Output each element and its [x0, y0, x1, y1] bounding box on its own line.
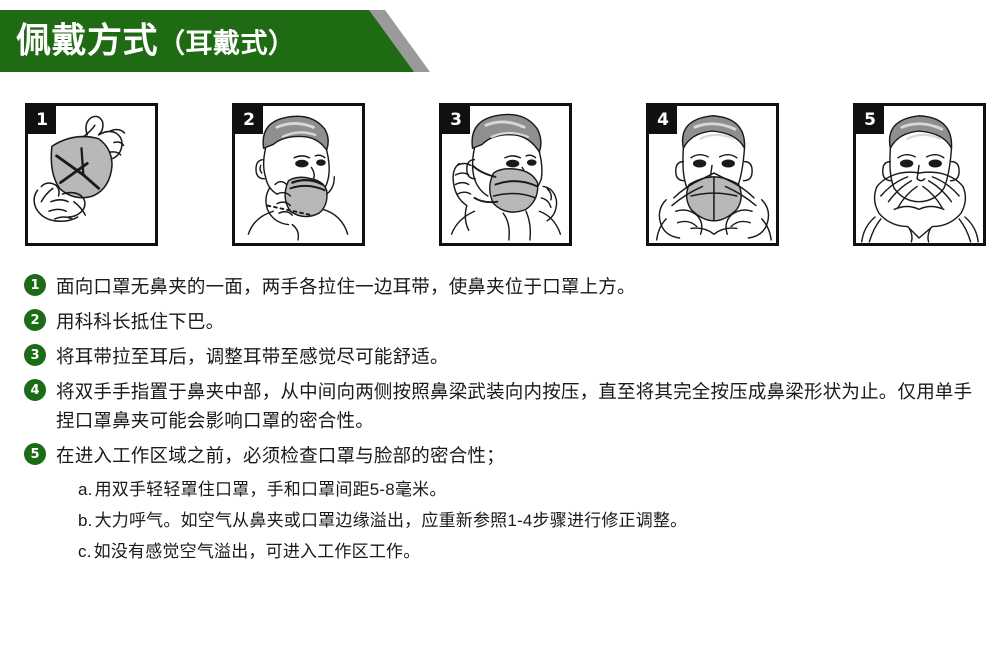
instruction-step-2: 2 用科科长抵住下巴。 [24, 307, 974, 336]
instruction-step-4: 4 将双手手指置于鼻夹中部，从中间向两侧按照鼻梁武装向内按压，直至将其完全按压成… [24, 377, 974, 435]
step-number-badge: 1 [24, 274, 46, 296]
step-text: 在进入工作区域之前，必须检查口罩与脸部的密合性； [56, 441, 974, 470]
illustration-panel-3: 3 [439, 103, 572, 246]
step-number-badge: 4 [24, 379, 46, 401]
substep-text: 用双手轻轻罩住口罩，手和口罩间距5-8毫米。 [95, 480, 447, 499]
substep-b: b.大力呼气。如空气从鼻夹或口罩边缘溢出，应重新参照1-4步骤进行修正调整。 [78, 505, 974, 536]
panel-number-badge: 3 [442, 106, 470, 134]
illustration-panel-5: 5 [853, 103, 986, 246]
page-title-subtitle: （耳戴式） [158, 29, 296, 59]
instruction-step-5: 5 在进入工作区域之前，必须检查口罩与脸部的密合性； a.用双手轻轻罩住口罩，手… [24, 441, 974, 567]
instruction-step-1: 1 面向口罩无鼻夹的一面，两手各拉住一边耳带，使鼻夹位于口罩上方。 [24, 272, 974, 301]
substep-list: a.用双手轻轻罩住口罩，手和口罩间距5-8毫米。 b.大力呼气。如空气从鼻夹或口… [56, 474, 974, 567]
illustration-panel-2: 2 [232, 103, 365, 246]
page-title-main: 佩戴方式 [16, 22, 158, 61]
step-text: 面向口罩无鼻夹的一面，两手各拉住一边耳带，使鼻夹位于口罩上方。 [56, 272, 974, 301]
substep-marker: c. [78, 542, 92, 561]
header-banner: 佩戴方式（耳戴式） [0, 10, 430, 72]
panel-number-badge: 5 [856, 106, 884, 134]
page-title: 佩戴方式（耳戴式） [16, 24, 296, 59]
panel-number-badge: 2 [235, 106, 263, 134]
substep-a: a.用双手轻轻罩住口罩，手和口罩间距5-8毫米。 [78, 474, 974, 505]
step-text: 用科科长抵住下巴。 [56, 307, 974, 336]
substep-text: 大力呼气。如空气从鼻夹或口罩边缘溢出，应重新参照1-4步骤进行修正调整。 [95, 511, 688, 530]
step-number-badge: 3 [24, 344, 46, 366]
step-number-badge: 5 [24, 443, 46, 465]
illustration-panel-4: 4 [646, 103, 779, 246]
substep-marker: a. [78, 480, 93, 499]
step-text: 将双手手指置于鼻夹中部，从中间向两侧按照鼻梁武装向内按压，直至将其完全按压成鼻梁… [56, 377, 974, 435]
substep-marker: b. [78, 511, 93, 530]
panel-number-badge: 4 [649, 106, 677, 134]
illustration-strip: 1 [25, 103, 965, 246]
substep-text: 如没有感觉空气溢出，可进入工作区工作。 [94, 542, 421, 561]
step-number-badge: 2 [24, 309, 46, 331]
substep-c: c.如没有感觉空气溢出，可进入工作区工作。 [78, 536, 974, 567]
step-text: 将耳带拉至耳后，调整耳带至感觉尽可能舒适。 [56, 342, 974, 371]
panel-number-badge: 1 [28, 106, 56, 134]
illustration-panel-1: 1 [25, 103, 158, 246]
instruction-list: 1 面向口罩无鼻夹的一面，两手各拉住一边耳带，使鼻夹位于口罩上方。 2 用科科长… [24, 272, 974, 573]
instruction-step-3: 3 将耳带拉至耳后，调整耳带至感觉尽可能舒适。 [24, 342, 974, 371]
